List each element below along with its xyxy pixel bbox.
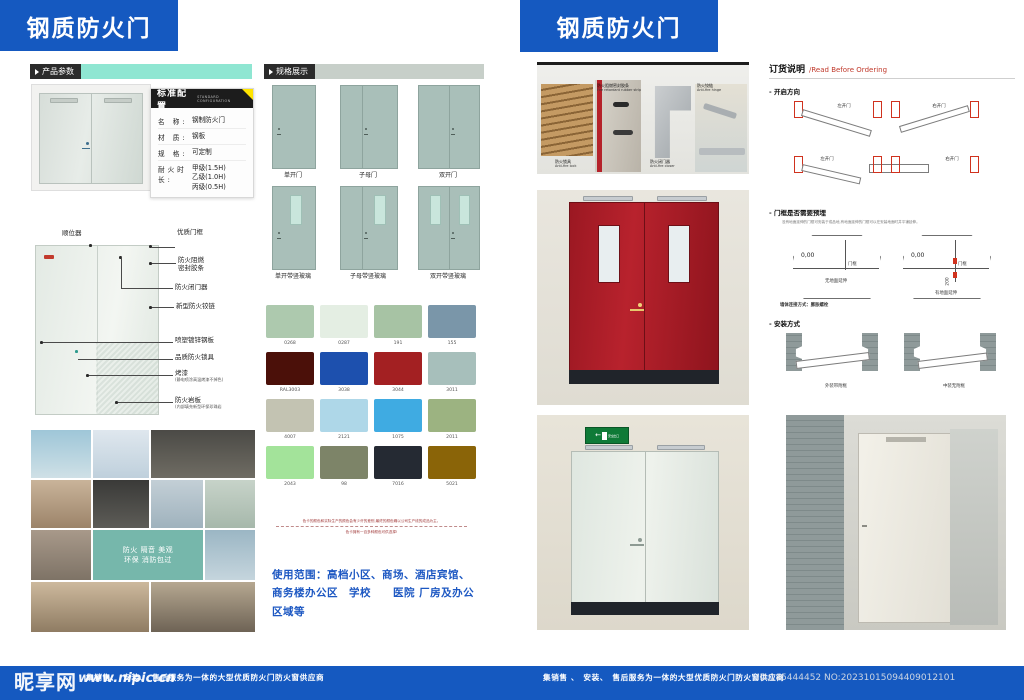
color-swatch-code: 4007 — [266, 435, 314, 440]
door-closer-right — [657, 196, 707, 201]
door-vision-glass — [430, 195, 441, 225]
callout-door-body — [35, 245, 159, 415]
collage-photo — [93, 430, 149, 478]
triangle-icon — [35, 69, 39, 75]
feature-badge: 防火 隔音 美观 环保 消防包过 — [93, 530, 203, 580]
closer-photo — [695, 84, 747, 172]
door-leaf-split — [644, 203, 645, 383]
collage-photo — [93, 480, 149, 528]
color-swatch[interactable] — [374, 399, 422, 432]
hardware-label-closer: 防火闭门器 Anti-fire closer — [650, 159, 675, 169]
door-closer-left — [50, 98, 78, 103]
hardware-label-rubber-strip: 防火阻燃密封胶条 Fire retardant rubber strip — [597, 83, 641, 93]
spec-card: 标准配置 STANDARD CONFIGURATION 名 称: 钢制防火门 材… — [150, 88, 254, 198]
door-lock-icon — [86, 142, 89, 145]
door-handle-icon — [277, 238, 281, 239]
frame-marker — [891, 101, 900, 118]
divider — [276, 526, 467, 527]
exit-sign: ← 安全出口 — [585, 427, 629, 444]
closer-rail-icon — [699, 148, 745, 155]
color-swatch-code: 3044 — [374, 388, 422, 393]
door-type-caption: 单开带竖玻璃 — [262, 271, 324, 280]
door-lock-icon — [365, 128, 367, 130]
color-swatch-code: 155 — [428, 341, 476, 346]
frame-label: 门框 — [848, 261, 874, 267]
exit-sign-text: 安全出口 — [608, 434, 619, 438]
door-vision-glass — [290, 195, 302, 225]
door-type-double-glass — [418, 186, 480, 270]
door-vision-glass — [374, 195, 386, 225]
frame-marker — [891, 156, 900, 173]
installed-door-photo — [786, 415, 1006, 630]
collage-photo — [151, 480, 203, 528]
spec-key: 耐火时长: — [158, 164, 192, 193]
section-tag-spec-show: 规格展示 — [264, 64, 484, 79]
hinge-photo — [647, 86, 691, 158]
door-leaf-split — [362, 86, 363, 168]
section-bar — [81, 64, 252, 79]
white-door-photo: ← 安全出口 — [537, 415, 749, 630]
door-handle-icon — [364, 134, 368, 135]
frame-line — [845, 240, 846, 270]
door-leaf-split — [645, 452, 646, 614]
door-lock-icon — [278, 128, 280, 130]
spec-card-subtitle: STANDARD CONFIGURATION — [197, 95, 247, 103]
spec-card-rows: 名 称: 钢制防火门 材 质: 钢板 规 格: 可定制 耐火时长: 甲级(1.5… — [151, 108, 253, 201]
brochure-page: 钢质防火门 钢质防火门 产品参数 标准配置 STANDARD CONFIGURA… — [0, 0, 1024, 700]
spec-key: 材 质: — [158, 132, 192, 142]
section-tag-product-params: 产品参数 — [30, 64, 252, 79]
direction-label: 左开门 — [807, 156, 847, 162]
spec-key: 规 格: — [158, 148, 192, 158]
spec-row: 耐火时长: 甲级(1.5H) 乙级(1.0H) 丙级(0.5H) — [158, 161, 246, 195]
door-vision-glass — [668, 225, 690, 283]
door-type-single-glass — [272, 186, 316, 270]
banner-left: 钢质防火门 — [0, 0, 178, 51]
elevation-zero-label: 0,00 — [801, 252, 814, 259]
door-leaf-line — [801, 164, 861, 184]
open-door-leaf — [858, 433, 956, 623]
spec-key: 名 称: — [158, 116, 192, 126]
door-type-single — [272, 85, 316, 169]
color-disclaimer: 色卡的颜色和实际生产的颜色会有少许的差别,最终的颜色确以公司生产线的成品为主。 … — [264, 518, 479, 535]
spec-value: 可定制 — [192, 148, 246, 158]
ground-line — [903, 268, 989, 269]
section-bar — [315, 64, 484, 79]
door-leaf-split — [449, 86, 450, 168]
spec-value: 甲级(1.5H) 乙级(1.0H) 丙级(0.5H) — [192, 164, 246, 193]
color-swatch-code: 7016 — [374, 482, 422, 487]
door-leaf-line — [801, 109, 872, 137]
door-top-label — [886, 437, 926, 442]
spec-value: 钢制防火门 — [192, 116, 246, 126]
corner-ribbon-icon — [242, 89, 253, 100]
door-type-mother-son — [340, 85, 398, 169]
door-closer-left — [583, 196, 633, 201]
install-caption: 外装带附框 — [786, 383, 886, 389]
banner-right-title: 钢质防火门 — [557, 9, 682, 43]
direction-label: 左开门 — [824, 103, 864, 109]
door-lock-icon — [452, 232, 454, 234]
color-swatch-code: 1075 — [374, 435, 422, 440]
footer-text-right: 集销售 、 安装、 售后服务为一体的大型优质防火门防火窗供应商 — [543, 672, 784, 683]
product-photo-door — [31, 84, 151, 191]
panel-layers-photo — [541, 84, 593, 156]
extension-marker — [953, 258, 957, 264]
ordering-embed-note: 没有地面延伸的门框可安装于成品地,有地面延伸的门框可以在安装地面时并平铺延伸。 — [782, 220, 1012, 225]
door-leaf-split — [91, 94, 92, 183]
door-handle-icon — [630, 544, 644, 546]
triangle-icon — [269, 69, 273, 75]
color-swatch-code: 191 — [374, 341, 422, 346]
color-swatch-code: 98 — [320, 482, 368, 487]
section-tag-label: 产品参数 — [30, 64, 81, 79]
section-tag-label: 规格展示 — [264, 64, 315, 79]
color-swatch[interactable] — [374, 305, 422, 338]
color-swatch[interactable] — [320, 352, 368, 385]
callout-label: 喷塑镀锌钢板 — [175, 336, 214, 344]
ground-line — [793, 268, 879, 269]
color-swatch-code: RAL3003 — [266, 388, 314, 393]
open-direction-diagrams: 左开门 右开门 左开门 右开门 — [769, 98, 1015, 206]
watermark-url: www.nipic.cn — [78, 671, 175, 686]
wall-connection-note: 墙体连接方式：膨胀螺栓 — [780, 302, 890, 308]
ordering-subtitle-embed: - 门框是否需要预埋 — [769, 207, 826, 217]
door-closer-right — [104, 98, 132, 103]
embed-caption: 有地面延伸 — [903, 290, 989, 296]
color-disclaimer-line2: 色卡拥有一百多种颜色可供选择! — [264, 529, 479, 535]
collage-photo — [151, 582, 255, 632]
door-handle-icon — [451, 134, 455, 135]
collage-photo — [31, 430, 91, 478]
callout-dot-lock — [75, 350, 78, 353]
color-swatch[interactable] — [266, 399, 314, 432]
door-handle-icon — [630, 309, 644, 311]
callout-label: 新型防火铰链 — [176, 302, 215, 310]
callout-marker-red — [44, 255, 54, 259]
color-swatch-code: 2043 — [266, 482, 314, 487]
color-swatch[interactable] — [266, 446, 314, 479]
ordering-subtitle-direction: - 开启方向 — [769, 86, 800, 96]
watermark-logo: 昵享网 — [14, 666, 77, 695]
lock-handle-icon — [613, 130, 633, 135]
banner-left-title: 钢质防火门 — [27, 9, 152, 43]
door-leaf-line — [796, 352, 870, 369]
color-swatch-code: 2121 — [320, 435, 368, 440]
door-callout-diagram: 顺位器 优质门框 防火阻燃 密封胶条 防火闭门器 新型防火铰链 喷塑镀锌钢板 品… — [31, 228, 253, 416]
collage-photo — [31, 480, 91, 528]
elevation-zero-label: 0,00 — [911, 252, 924, 259]
door-type-caption: 双开门 — [419, 170, 477, 179]
frame-marker — [873, 156, 882, 173]
spec-row: 材 质: 钢板 — [158, 129, 246, 145]
color-swatch[interactable] — [320, 446, 368, 479]
extension-marker — [953, 272, 957, 278]
door-type-caption: 双开带竖玻璃 — [417, 271, 479, 280]
color-swatch[interactable] — [428, 305, 476, 338]
door-vision-glass — [598, 225, 620, 283]
ordering-title: 订货说明/Read Before Ordering — [769, 62, 887, 75]
door-closer-right — [657, 445, 705, 450]
door-closer-left — [585, 445, 633, 450]
hardware-label-lock: 防火锁具 Anti-fire lock — [555, 159, 576, 169]
install-diagram-with-subframe — [786, 333, 886, 381]
door-edge-red — [597, 80, 602, 172]
color-swatch[interactable] — [428, 446, 476, 479]
callout-label: 防火阻燃 密封胶条 — [178, 256, 204, 272]
embed-caption: 无地面延伸 — [793, 278, 879, 284]
spec-card-title: 标准配置 — [157, 89, 192, 108]
door-leaf-split — [362, 187, 363, 269]
feature-badge-text: 防火 隔音 美观 环保 消防包过 — [123, 545, 173, 566]
project-photo-collage: 防火 隔音 美观 环保 消防包过 — [31, 430, 253, 630]
collage-photo — [205, 480, 255, 528]
divider — [769, 78, 1015, 79]
collage-photo — [151, 430, 255, 478]
collage-photo — [31, 582, 149, 632]
frame-marker — [970, 101, 979, 118]
photo-top-bar — [537, 62, 749, 65]
door-handle-icon — [82, 148, 90, 149]
hardware-label-hinge: 防火铰链 Anti-fire hinge — [697, 83, 721, 93]
door-lock-icon — [278, 232, 280, 234]
door-handle-icon — [364, 238, 368, 239]
direction-label: 右开门 — [932, 156, 972, 162]
spec-value: 钢板 — [192, 132, 246, 142]
callout-label: 防火岩板 (内部填充新型环保珍珠岩 — [175, 396, 222, 409]
door-vision-glass — [459, 195, 470, 225]
door-lock-icon — [452, 128, 454, 130]
red-fire-door — [569, 202, 719, 384]
door-type-caption: 子母带竖玻璃 — [337, 271, 399, 280]
door-leaf-line — [918, 352, 988, 368]
frame-label: 门框 — [958, 261, 984, 267]
door-lock-icon — [638, 303, 642, 307]
install-caption: 中装无附框 — [904, 383, 1004, 389]
usage-scope-text: 使用范围：高档小区、商场、酒店宾馆、商务楼办公区 学校 医院 厂房及办公区域等 — [272, 566, 477, 621]
door-lock-icon — [638, 538, 642, 542]
door-illustration — [39, 93, 143, 184]
color-swatch[interactable] — [266, 305, 314, 338]
embed-diagram-no-extension — [793, 235, 881, 299]
extension-dimension: 200 — [946, 272, 951, 292]
color-swatch[interactable] — [320, 399, 368, 432]
door-handle-icon — [451, 238, 455, 239]
door-type-caption: 单开门 — [264, 170, 322, 179]
door-handle-icon — [862, 525, 867, 527]
callout-label: 优质门框 — [177, 228, 203, 236]
color-swatch-code: 3038 — [320, 388, 368, 393]
spec-row: 名 称: 钢制防火门 — [158, 113, 246, 129]
color-swatch-code: 0268 — [266, 341, 314, 346]
color-swatch[interactable] — [320, 305, 368, 338]
watermark-id: ID:185444452 NO:20231015094409012101 — [757, 673, 955, 683]
install-diagram-no-subframe — [904, 333, 1004, 381]
color-swatch[interactable] — [428, 399, 476, 432]
door-plinth — [571, 602, 719, 615]
arrow-left-icon: ← — [595, 432, 601, 439]
callout-label: 品质防火锁具 — [175, 353, 214, 361]
hardware-photo-strip: 防火阻燃密封胶条 Fire retardant rubber strip 防火铰… — [537, 62, 749, 174]
lock-handle-icon — [613, 102, 629, 107]
callout-label: 防火闭门器 — [175, 283, 208, 291]
color-swatch-code: 2011 — [428, 435, 476, 440]
color-swatch[interactable] — [374, 446, 422, 479]
color-swatch[interactable] — [266, 352, 314, 385]
callout-dot — [89, 244, 92, 247]
door-handle-icon — [277, 134, 281, 135]
color-swatch-code: 5021 — [428, 482, 476, 487]
banner-right: 钢质防火门 — [520, 0, 718, 52]
callout-hatch-area — [96, 342, 158, 414]
collage-photo — [31, 530, 91, 580]
door-frame-side — [950, 429, 998, 625]
door-type-caption: 子母门 — [339, 170, 397, 179]
spec-card-header: 标准配置 STANDARD CONFIGURATION — [151, 89, 253, 108]
callout-label: 顺位器 — [62, 229, 82, 237]
running-man-icon — [602, 432, 607, 440]
color-swatch-code: 0287 — [320, 341, 368, 346]
brick-wall — [786, 415, 844, 630]
color-swatch[interactable] — [374, 352, 422, 385]
ordering-subtitle-install: - 安装方式 — [769, 318, 800, 328]
door-lock-icon — [365, 232, 367, 234]
door-plinth — [569, 370, 719, 384]
callout-label: 烤漆 (静电喷涂高温烤漆不掉色) — [175, 369, 223, 382]
door-leaf-split — [449, 187, 450, 269]
red-door-photo — [537, 190, 749, 405]
door-leaf-line — [899, 105, 970, 133]
spec-row: 规 格: 可定制 — [158, 145, 246, 161]
door-type-mother-son-glass — [340, 186, 398, 270]
color-swatch[interactable] — [428, 352, 476, 385]
frame-marker — [873, 101, 882, 118]
collage-photo — [205, 530, 255, 580]
direction-label: 右开门 — [919, 103, 959, 109]
color-swatch-code: 3011 — [428, 388, 476, 393]
frame-marker — [970, 156, 979, 173]
door-type-double — [418, 85, 480, 169]
color-disclaimer-line1: 色卡的颜色和实际生产的颜色会有少许的差别,最终的颜色确以公司生产线的成品为主。 — [264, 518, 479, 524]
white-fire-door — [571, 451, 719, 615]
